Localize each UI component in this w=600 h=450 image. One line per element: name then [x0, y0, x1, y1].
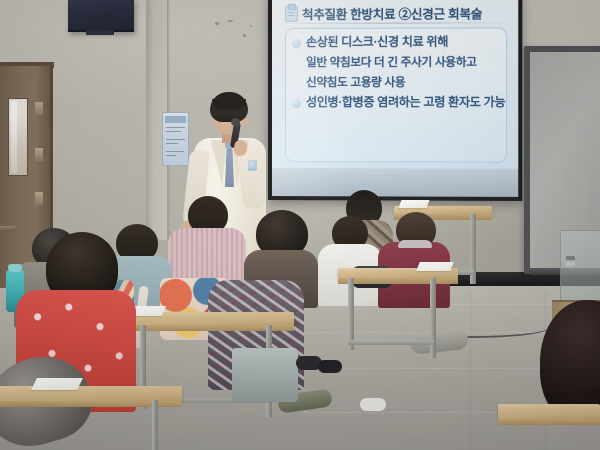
- wall-speaker: [68, 0, 134, 32]
- desk-rail: [348, 340, 434, 345]
- desk-edge: [338, 278, 458, 284]
- slide-bullet-text: 일반 약침보다 더 긴 주사기 사용하고: [306, 56, 477, 69]
- coat-lapel-left: [209, 140, 227, 186]
- attendee-maroon-polo: [378, 212, 452, 308]
- desk-surface: [498, 404, 600, 420]
- desk-edge: [498, 419, 600, 425]
- poster-text-line: [166, 155, 176, 156]
- paper-handout: [399, 200, 430, 208]
- slide-bullet-text: 손상된 디스크·신경 치료 위해: [306, 36, 448, 50]
- coat-badge: [248, 160, 257, 171]
- door-window-reflection: [11, 101, 17, 173]
- door-hinge: [35, 102, 43, 115]
- wall-mark: [243, 34, 246, 37]
- door-hinge: [35, 148, 43, 161]
- wall-mark: [250, 25, 252, 27]
- poster-text-line: [166, 127, 185, 128]
- slide-bullet: 손상된 디스크·신경 치료 위해: [292, 35, 500, 49]
- lecture-room-photo: 척추질환 한방치료 ②신경근 회복술 손상된 디스크·신경 치료 위해 일반 약…: [0, 0, 600, 450]
- projection-screen-frame: 척추질환 한방치료 ②신경근 회복술 손상된 디스크·신경 치료 위해 일반 약…: [268, 0, 522, 201]
- door-window: [8, 98, 28, 176]
- poster-text-line: [166, 143, 178, 144]
- wall-mark: [228, 20, 233, 22]
- desk: [498, 404, 600, 420]
- bullet-dot-icon: [292, 99, 301, 108]
- floor-tile-line: [470, 290, 471, 450]
- polo-collar: [398, 240, 432, 248]
- attendee-foreground-right: [540, 300, 600, 450]
- poster-text-line: [166, 131, 181, 132]
- door-hinge: [35, 192, 43, 205]
- water-bottle-cap: [8, 264, 22, 272]
- clipboard-icon: [285, 5, 298, 21]
- slide-bullet-text: 신약침도 고용량 사용: [306, 76, 405, 89]
- slide-bullet-text: 성인병·합병증 염려하는 고령 환자도 가능: [306, 96, 505, 110]
- bullet-dot-icon: [292, 39, 301, 48]
- paper-handout: [31, 378, 83, 390]
- desk-leg: [152, 400, 158, 450]
- slide-title: 척추질환 한방치료 ②신경근 회복술: [302, 3, 482, 23]
- microphone-head: [231, 118, 240, 126]
- glass-partition: [560, 230, 600, 304]
- projection-screen: 척추질환 한방치료 ②신경근 회복술 손상된 디스크·신경 치료 위해 일반 약…: [272, 0, 518, 197]
- slide-bullet: 신약침도 고용량 사용: [292, 76, 500, 89]
- speaker-bracket: [86, 30, 114, 35]
- slide-bullet: 일반 약침보다 더 긴 주사기 사용하고: [292, 56, 500, 69]
- desk-leg: [430, 278, 436, 358]
- shoe: [318, 360, 342, 373]
- chair-back: [232, 348, 298, 402]
- slide-bullet: 성인병·합병증 염려하는 고령 환자도 가능: [292, 96, 500, 110]
- shoe: [360, 398, 386, 411]
- bullet-spacer: [292, 59, 301, 68]
- wall-mark: [215, 22, 219, 25]
- bullet-spacer: [292, 79, 301, 88]
- poster-header-band: [165, 116, 186, 123]
- slide-bullet-box: 손상된 디스크·신경 치료 위해 일반 약침보다 더 긴 주사기 사용하고 신약…: [285, 27, 507, 162]
- paper-handout: [416, 262, 454, 271]
- poster-text-line: [166, 139, 185, 140]
- poster-text-line: [166, 151, 184, 152]
- wall-notice-poster: [162, 112, 189, 166]
